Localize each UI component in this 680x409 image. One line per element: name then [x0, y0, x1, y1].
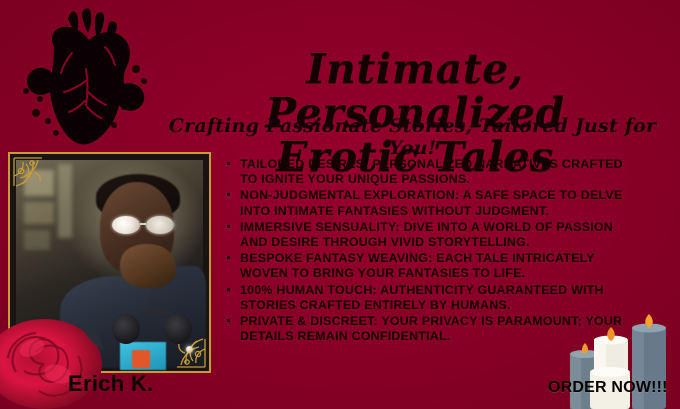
list-item: Private & discreet: Your privacy is para…	[226, 314, 626, 344]
list-item: Tailored Desires: Personalized narrative…	[226, 157, 626, 187]
list-item: Bespoke fantasy weaving: Each tale intri…	[226, 251, 626, 281]
feature-list: Tailored Desires: Personalized narrative…	[226, 157, 626, 345]
promo-poster: Intimate, Personalized Erotic Tales Craf…	[0, 0, 680, 409]
order-now-button[interactable]: ORDER NOW!!!	[548, 379, 668, 397]
anatomical-heart-icon	[10, 3, 160, 148]
seller-name: Erich K.	[68, 371, 154, 397]
pearl-accent-icon	[186, 346, 193, 353]
list-item: 100% human touch: Authenticity guarantee…	[226, 283, 626, 313]
list-item: Non-judgmental exploration: A safe space…	[226, 188, 626, 218]
page-subtitle: Crafting Passionate Stories, Tailored Ju…	[160, 115, 665, 159]
list-item: Immersive sensuality: Dive into a world …	[226, 220, 626, 250]
